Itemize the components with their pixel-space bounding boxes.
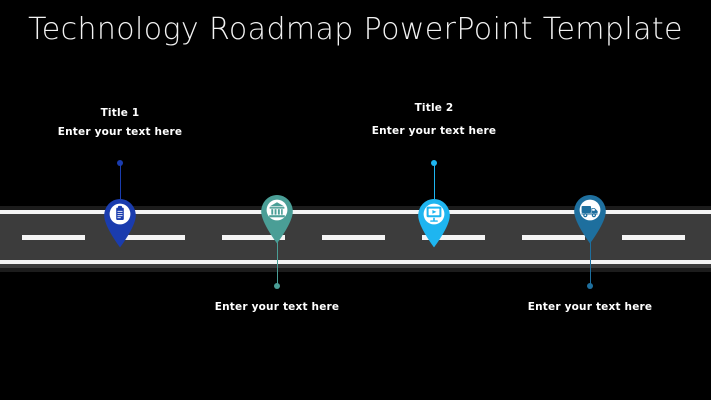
- milestone-connector-dot: [587, 283, 593, 289]
- road-lane-dash: [622, 235, 685, 240]
- milestone-connector-line: [277, 242, 278, 284]
- milestone-connector-dot: [117, 160, 123, 166]
- delivery-truck-icon: [570, 192, 610, 244]
- clipboard-pin[interactable]: [100, 196, 140, 248]
- bank-icon: [257, 192, 297, 244]
- slide-canvas: Technology Roadmap PowerPoint Template T…: [0, 0, 711, 400]
- milestone-connector-line: [434, 165, 435, 199]
- milestone-title: Title 1: [20, 107, 220, 119]
- bank-pin[interactable]: [257, 192, 297, 244]
- road-shoulder-bottom: [0, 268, 711, 272]
- milestone-title: Title 2: [334, 102, 534, 114]
- road-edge-line-bottom: [0, 260, 711, 264]
- road-lane-dash: [322, 235, 385, 240]
- presentation-screen-pin[interactable]: [414, 196, 454, 248]
- milestone-connector-line: [120, 165, 121, 199]
- milestone-body-text: Enter your text here: [20, 126, 220, 138]
- road-lane-dash: [22, 235, 85, 240]
- delivery-truck-pin[interactable]: [570, 192, 610, 244]
- milestone-connector-line: [590, 242, 591, 284]
- page-title: Technology Roadmap PowerPoint Template: [0, 12, 711, 47]
- milestone-connector-dot: [431, 160, 437, 166]
- clipboard-icon: [100, 196, 140, 248]
- milestone-body-text: Enter your text here: [334, 125, 534, 137]
- presentation-screen-icon: [414, 196, 454, 248]
- milestone-body-text: Enter your text here: [490, 301, 690, 313]
- milestone-connector-dot: [274, 283, 280, 289]
- milestone-body-text: Enter your text here: [177, 301, 377, 313]
